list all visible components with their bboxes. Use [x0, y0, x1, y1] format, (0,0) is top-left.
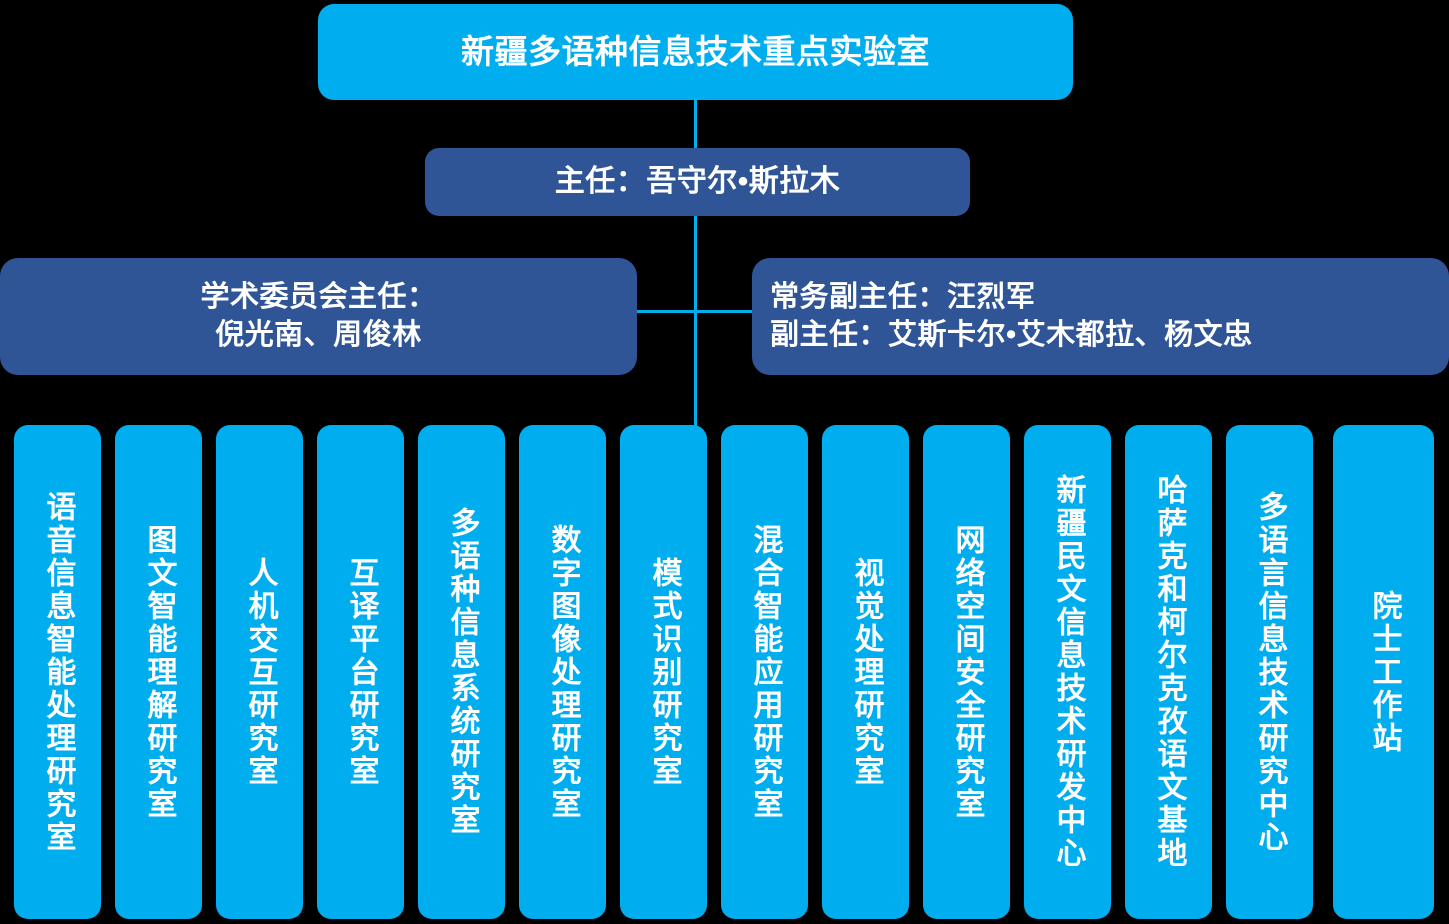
deputy-directors-node: 常务副主任：汪烈军 副主任：艾斯卡尔•艾木都拉、杨文忠	[752, 258, 1449, 375]
org-chart-diagram: 新疆多语种信息技术重点实验室 主任：吾守尔•斯拉木 学术委员会主任： 倪光南、周…	[0, 0, 1449, 924]
research-unit-label: 多语种信息系统研究室	[447, 507, 477, 837]
academic-committee-node: 学术委员会主任： 倪光南、周俊林	[0, 258, 637, 375]
lab-title-node: 新疆多语种信息技术重点实验室	[318, 4, 1073, 100]
connector-director-to-units	[694, 216, 697, 428]
research-unit-column[interactable]: 人机交互研究室	[216, 425, 303, 919]
research-unit-label: 图文智能理解研究室	[144, 524, 174, 821]
research-unit-column[interactable]: 语音信息智能处理研究室	[14, 425, 101, 919]
research-unit-label: 互译平台研究室	[346, 557, 376, 788]
research-unit-column[interactable]: 图文智能理解研究室	[115, 425, 202, 919]
connector-title-to-director	[694, 96, 697, 150]
research-unit-column[interactable]: 数字图像处理研究室	[519, 425, 606, 919]
research-unit-column[interactable]: 多语言信息技术研究中心	[1226, 425, 1313, 919]
research-unit-label: 新疆民文信息技术研发中心	[1053, 474, 1083, 870]
research-unit-label: 模式识别研究室	[649, 557, 679, 788]
research-unit-column[interactable]: 混合智能应用研究室	[721, 425, 808, 919]
research-unit-label: 数字图像处理研究室	[548, 524, 578, 821]
research-unit-column[interactable]: 哈萨克和柯尔克孜语文基地	[1125, 425, 1212, 919]
research-unit-column[interactable]: 互译平台研究室	[317, 425, 404, 919]
research-unit-column[interactable]: 院士工作站	[1333, 425, 1434, 919]
research-unit-label: 人机交互研究室	[245, 557, 275, 788]
research-unit-label: 网络空间安全研究室	[952, 524, 982, 821]
research-unit-column[interactable]: 视觉处理研究室	[822, 425, 909, 919]
research-unit-column[interactable]: 模式识别研究室	[620, 425, 707, 919]
research-unit-label: 多语言信息技术研究中心	[1255, 491, 1285, 854]
research-unit-label: 视觉处理研究室	[851, 557, 881, 788]
research-unit-label: 哈萨克和柯尔克孜语文基地	[1154, 474, 1184, 870]
research-unit-column[interactable]: 多语种信息系统研究室	[418, 425, 505, 919]
connector-horizontal-branch	[634, 310, 754, 313]
research-unit-column[interactable]: 网络空间安全研究室	[923, 425, 1010, 919]
research-unit-label: 混合智能应用研究室	[750, 524, 780, 821]
research-unit-label: 语音信息智能处理研究室	[43, 491, 73, 854]
research-unit-column[interactable]: 新疆民文信息技术研发中心	[1024, 425, 1111, 919]
research-unit-label: 院士工作站	[1369, 590, 1399, 755]
research-units-row: 语音信息智能处理研究室图文智能理解研究室人机交互研究室互译平台研究室多语种信息系…	[0, 425, 1449, 919]
director-node: 主任：吾守尔•斯拉木	[425, 148, 970, 216]
